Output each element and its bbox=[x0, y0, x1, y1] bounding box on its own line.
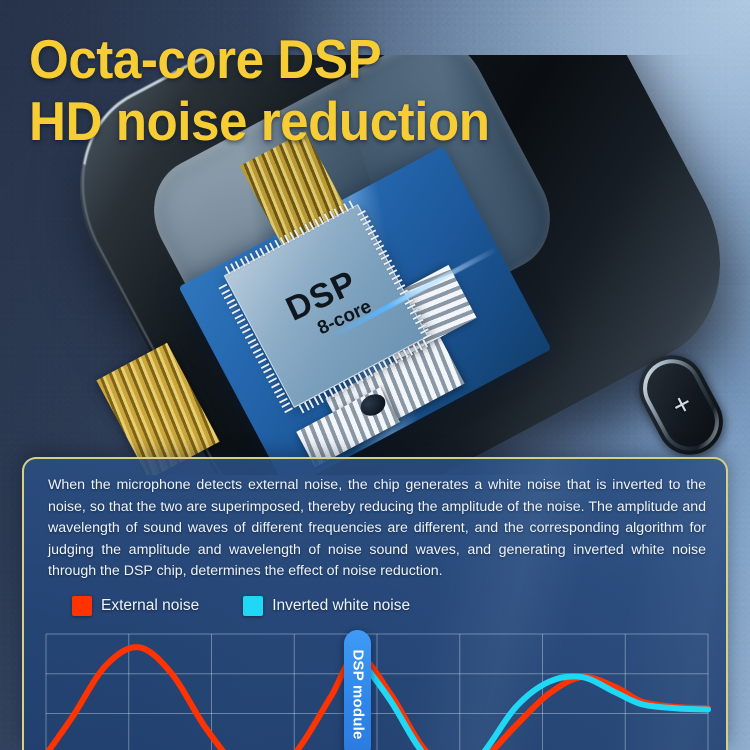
dsp-module-label: DSP module bbox=[349, 650, 366, 740]
headline-line-1: Octa-core DSP bbox=[29, 28, 381, 90]
noise-cancellation-chart: DSP module bbox=[24, 628, 728, 750]
poster-canvas: DSP 8-core + Octa-core DSPHD noise reduc… bbox=[0, 0, 750, 750]
legend-item-inverted-white-noise: Inverted white noise bbox=[243, 596, 410, 616]
chart-legend: External noise Inverted white noise bbox=[72, 596, 726, 616]
info-panel: When the microphone detects external noi… bbox=[22, 457, 728, 750]
headline-line-2: HD noise reduction bbox=[29, 94, 490, 148]
legend-item-external-noise: External noise bbox=[72, 596, 199, 616]
dsp-module-badge: DSP module bbox=[344, 630, 371, 750]
legend-label-external-noise: External noise bbox=[101, 597, 199, 615]
legend-swatch-external-noise bbox=[72, 596, 92, 616]
legend-swatch-inverted-white-noise bbox=[243, 596, 263, 616]
chart-svg bbox=[24, 628, 728, 750]
legend-label-inverted-white-noise: Inverted white noise bbox=[272, 597, 410, 615]
description-paragraph: When the microphone detects external noi… bbox=[48, 475, 706, 583]
page-title: Octa-core DSPHD noise reduction bbox=[29, 32, 490, 149]
